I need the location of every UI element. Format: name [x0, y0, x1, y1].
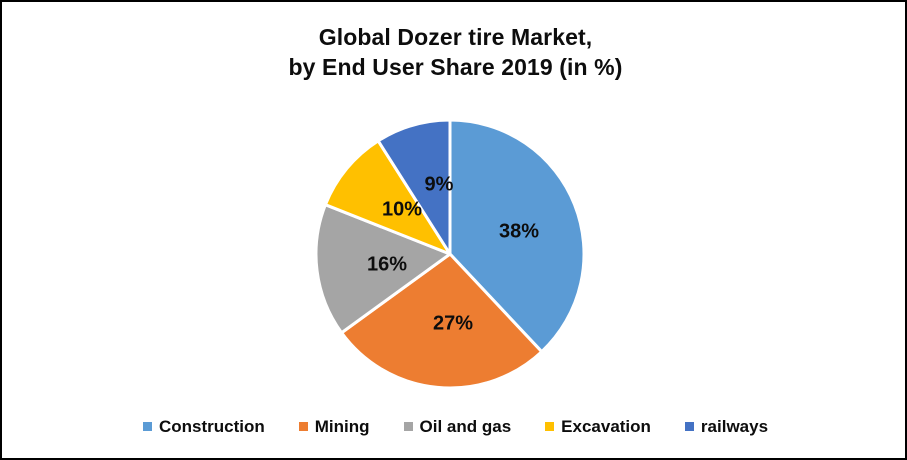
chart-title-line-2: by End User Share 2019 (in %)	[2, 52, 907, 82]
legend-item-railways[interactable]: railways	[685, 418, 768, 435]
legend-label: Mining	[315, 418, 370, 435]
chart-title-line-1: Global Dozer tire Market,	[2, 22, 907, 52]
legend-swatch-icon	[143, 422, 152, 431]
legend-label: railways	[701, 418, 768, 435]
legend-swatch-icon	[685, 422, 694, 431]
legend-item-construction[interactable]: Construction	[143, 418, 265, 435]
legend-item-mining[interactable]: Mining	[299, 418, 370, 435]
pie-svg	[315, 119, 585, 389]
legend-item-oil-and-gas[interactable]: Oil and gas	[404, 418, 512, 435]
legend-label: Oil and gas	[420, 418, 512, 435]
legend-swatch-icon	[299, 422, 308, 431]
pie-chart-figure: Global Dozer tire Market, by End User Sh…	[0, 0, 907, 460]
legend-swatch-icon	[545, 422, 554, 431]
legend-swatch-icon	[404, 422, 413, 431]
legend-label: Construction	[159, 418, 265, 435]
chart-title: Global Dozer tire Market, by End User Sh…	[2, 22, 907, 83]
legend-label: Excavation	[561, 418, 651, 435]
chart-legend: ConstructionMiningOil and gasExcavationr…	[2, 418, 907, 435]
plot-area: 38%27%16%10%9%	[2, 102, 907, 402]
legend-item-excavation[interactable]: Excavation	[545, 418, 651, 435]
